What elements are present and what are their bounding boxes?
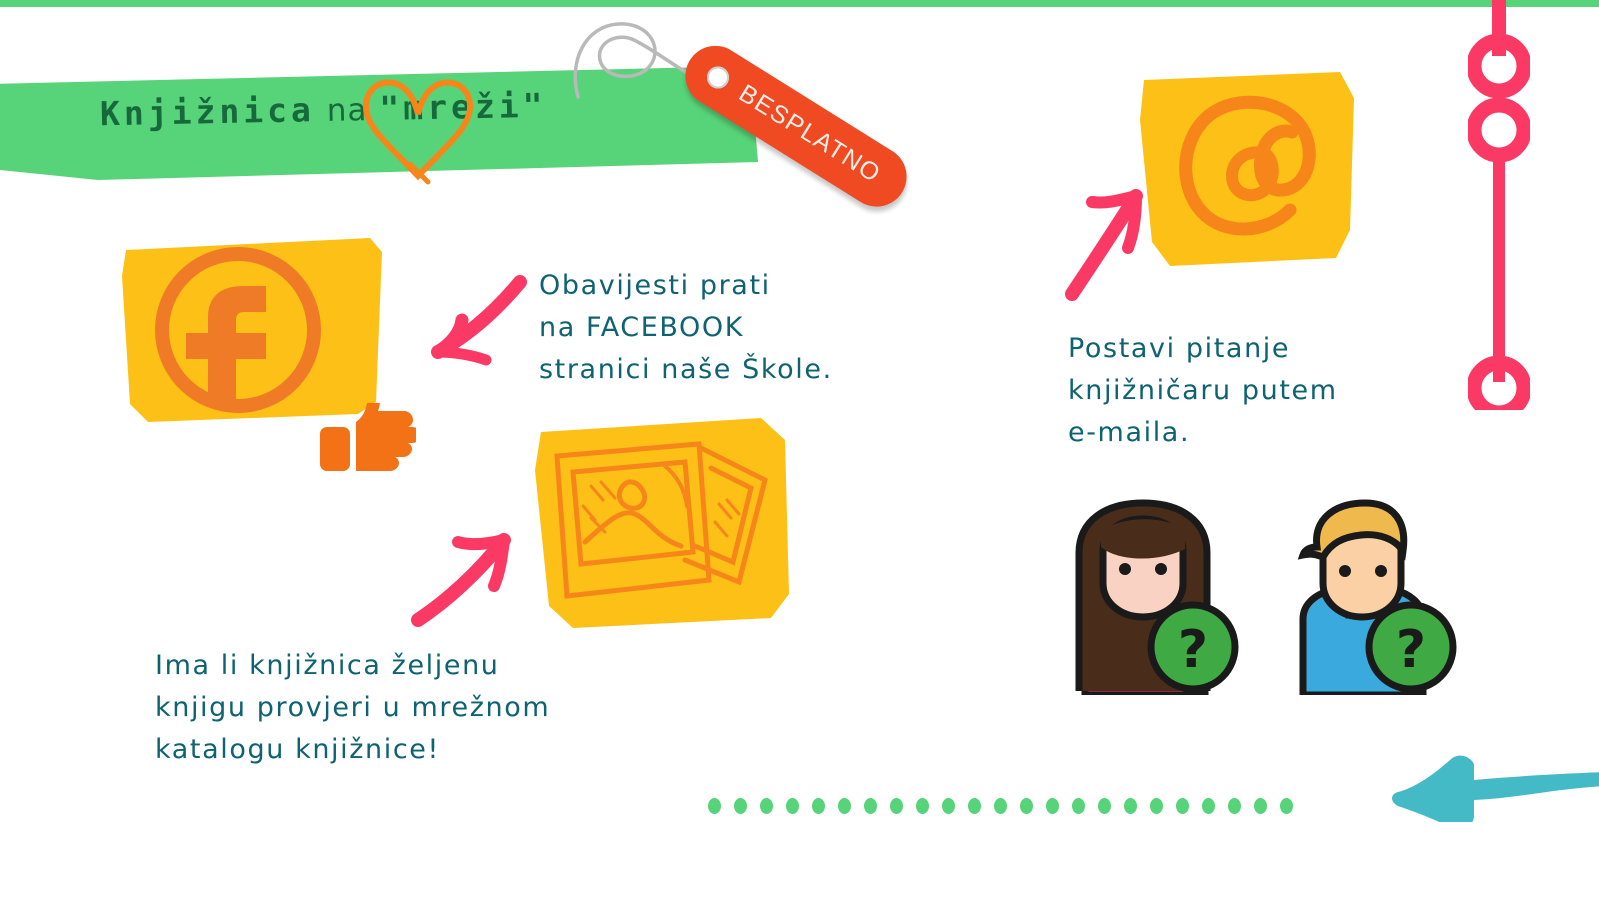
title-quoted: "mreži": [379, 86, 547, 128]
dotted-divider: [708, 798, 1293, 814]
female-user-avatar: ?: [1079, 503, 1235, 695]
catalog-note[interactable]: [533, 410, 795, 632]
title-highlight: na: [314, 92, 379, 129]
thumbs-up-icon: [320, 403, 416, 473]
poster-canvas: Knjižnicana"mreži" BESPLATNO: [0, 0, 1599, 897]
divider-dot: [1098, 798, 1111, 814]
facebook-copy: Obavijesti prati na FACEBOOK stranici na…: [539, 265, 833, 391]
divider-dot: [864, 798, 877, 814]
arrow-down-left-icon: [422, 272, 532, 367]
email-copy: Postavi pitanje knjižničaru putem e-mail…: [1068, 328, 1338, 454]
divider-dot: [734, 798, 747, 814]
divider-dot: [1020, 798, 1033, 814]
catalog-copy: Ima li knjižnica željenu knjigu provjeri…: [155, 645, 550, 771]
divider-dot: [1228, 798, 1241, 814]
arrow-left-icon: [1378, 722, 1599, 822]
question-badge-label: ?: [1178, 620, 1208, 680]
timeline-node: [1474, 41, 1524, 91]
divider-dot: [968, 798, 981, 814]
divider-dot: [890, 798, 903, 814]
user-avatars-group: ? ?: [1065, 495, 1465, 695]
title-lead: Knjižnica: [100, 90, 316, 133]
besplatno-tag: BESPLATNO: [560, 2, 980, 192]
divider-dot: [708, 798, 721, 814]
divider-dot: [942, 798, 955, 814]
facebook-note[interactable]: [120, 236, 388, 428]
divider-dot: [1176, 798, 1189, 814]
tag-hole: [703, 62, 733, 92]
divider-dot: [786, 798, 799, 814]
divider-dot: [994, 798, 1007, 814]
divider-dot: [916, 798, 929, 814]
timeline-node: [1474, 105, 1524, 155]
divider-dot: [1124, 798, 1137, 814]
timeline-node: [1474, 363, 1524, 410]
divider-dot: [838, 798, 851, 814]
divider-dot: [1150, 798, 1163, 814]
divider-dot: [1072, 798, 1085, 814]
arrow-up-right-icon: [408, 528, 518, 628]
divider-dot: [1202, 798, 1215, 814]
email-note[interactable]: [1140, 70, 1362, 270]
timeline-track: [1468, 0, 1530, 410]
divider-dot: [760, 798, 773, 814]
male-user-avatar: ?: [1303, 503, 1453, 695]
divider-dot: [1046, 798, 1059, 814]
divider-dot: [1254, 798, 1267, 814]
question-badge-label: ?: [1396, 620, 1426, 680]
divider-dot: [1280, 798, 1293, 814]
arrow-up-right-icon: [1058, 178, 1158, 303]
divider-dot: [812, 798, 825, 814]
